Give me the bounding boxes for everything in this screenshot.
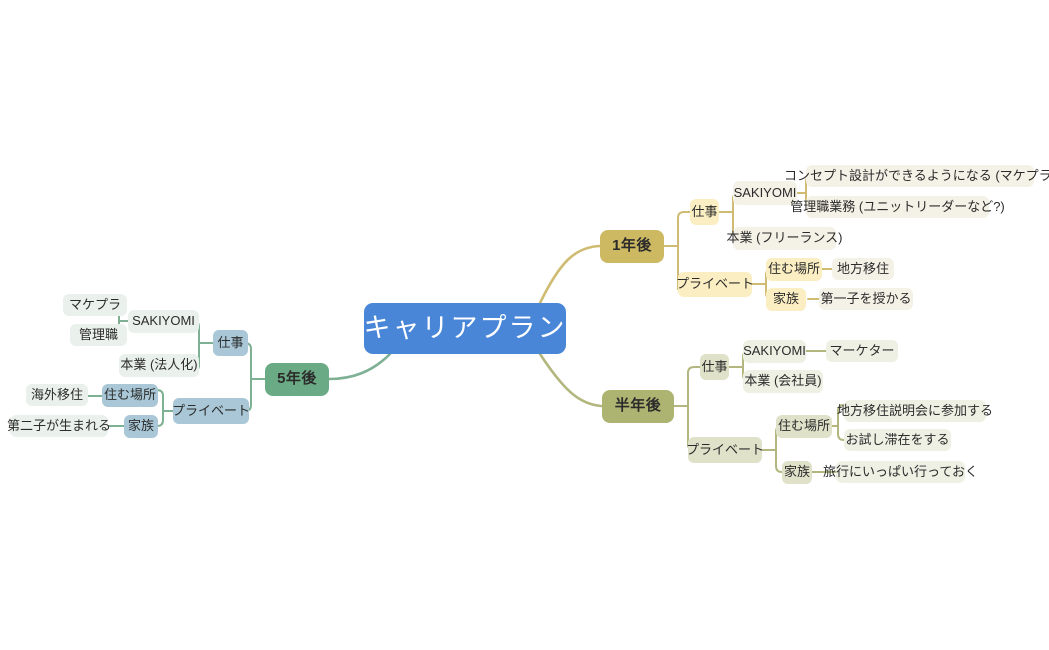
node-one-year-work-sakiyomi[interactable]: SAKIYOMI [733,181,797,205]
node-half-year-work-sakiyomi[interactable]: SAKIYOMI [743,340,806,363]
node-five-year-private-family-second-child[interactable]: 第二子が生まれる [10,415,108,437]
branch-node-one-year[interactable]: 1年後 [600,230,664,263]
node-five-year-private[interactable]: プライベート [173,398,249,424]
node-one-year-work[interactable]: 仕事 [690,199,719,225]
node-half-year-private-family-travel[interactable]: 旅行にいっぱい行っておく [836,461,965,483]
branch-node-half-year[interactable]: 半年後 [602,390,674,423]
node-half-year-private-place[interactable]: 住む場所 [776,415,832,438]
node-five-year-work-sakiyomi-manager[interactable]: 管理職 [70,324,127,346]
node-half-year-private[interactable]: プライベート [688,437,762,463]
node-one-year-private-family[interactable]: 家族 [766,288,806,311]
node-half-year-private-place-seminar[interactable]: 地方移住説明会に参加する [844,400,986,422]
node-one-year-private-family-child[interactable]: 第一子を授かる [819,288,913,310]
node-five-year-private-place[interactable]: 住む場所 [102,384,158,407]
node-one-year-private[interactable]: プライベート [678,272,752,297]
node-half-year-private-place-trial[interactable]: お試し滞在をする [844,429,951,451]
node-one-year-private-place-rural[interactable]: 地方移住 [832,258,894,280]
node-five-year-work-main[interactable]: 本業 (法人化) [119,354,199,377]
node-one-year-work-sakiyomi-concept[interactable]: コンセプト設計ができるようになる (マケプラ) [806,165,1034,187]
node-half-year-work-main[interactable]: 本業 (会社員) [743,370,823,393]
node-five-year-work[interactable]: 仕事 [213,330,248,356]
root-node[interactable]: キャリアプラン [364,303,566,354]
node-one-year-work-sakiyomi-manager[interactable]: 管理職業務 (ユニットリーダーなど?) [806,196,989,218]
node-five-year-private-family[interactable]: 家族 [124,415,158,438]
node-five-year-work-sakiyomi-makepla[interactable]: マケプラ [63,294,127,316]
node-half-year-work-sakiyomi-marketer[interactable]: マーケター [826,340,898,362]
node-one-year-work-main[interactable]: 本業 (フリーランス) [733,227,836,250]
branch-node-five-year[interactable]: 5年後 [265,363,329,396]
node-one-year-private-place[interactable]: 住む場所 [766,258,822,281]
node-half-year-work[interactable]: 仕事 [700,354,729,380]
node-five-year-private-place-abroad[interactable]: 海外移住 [26,384,88,406]
node-five-year-work-sakiyomi[interactable]: SAKIYOMI [128,310,199,333]
mindmap-canvas: キャリアプラン 1年後 仕事 SAKIYOMI コンセプト設計ができるようになる… [0,0,1049,650]
node-half-year-private-family[interactable]: 家族 [782,461,812,484]
